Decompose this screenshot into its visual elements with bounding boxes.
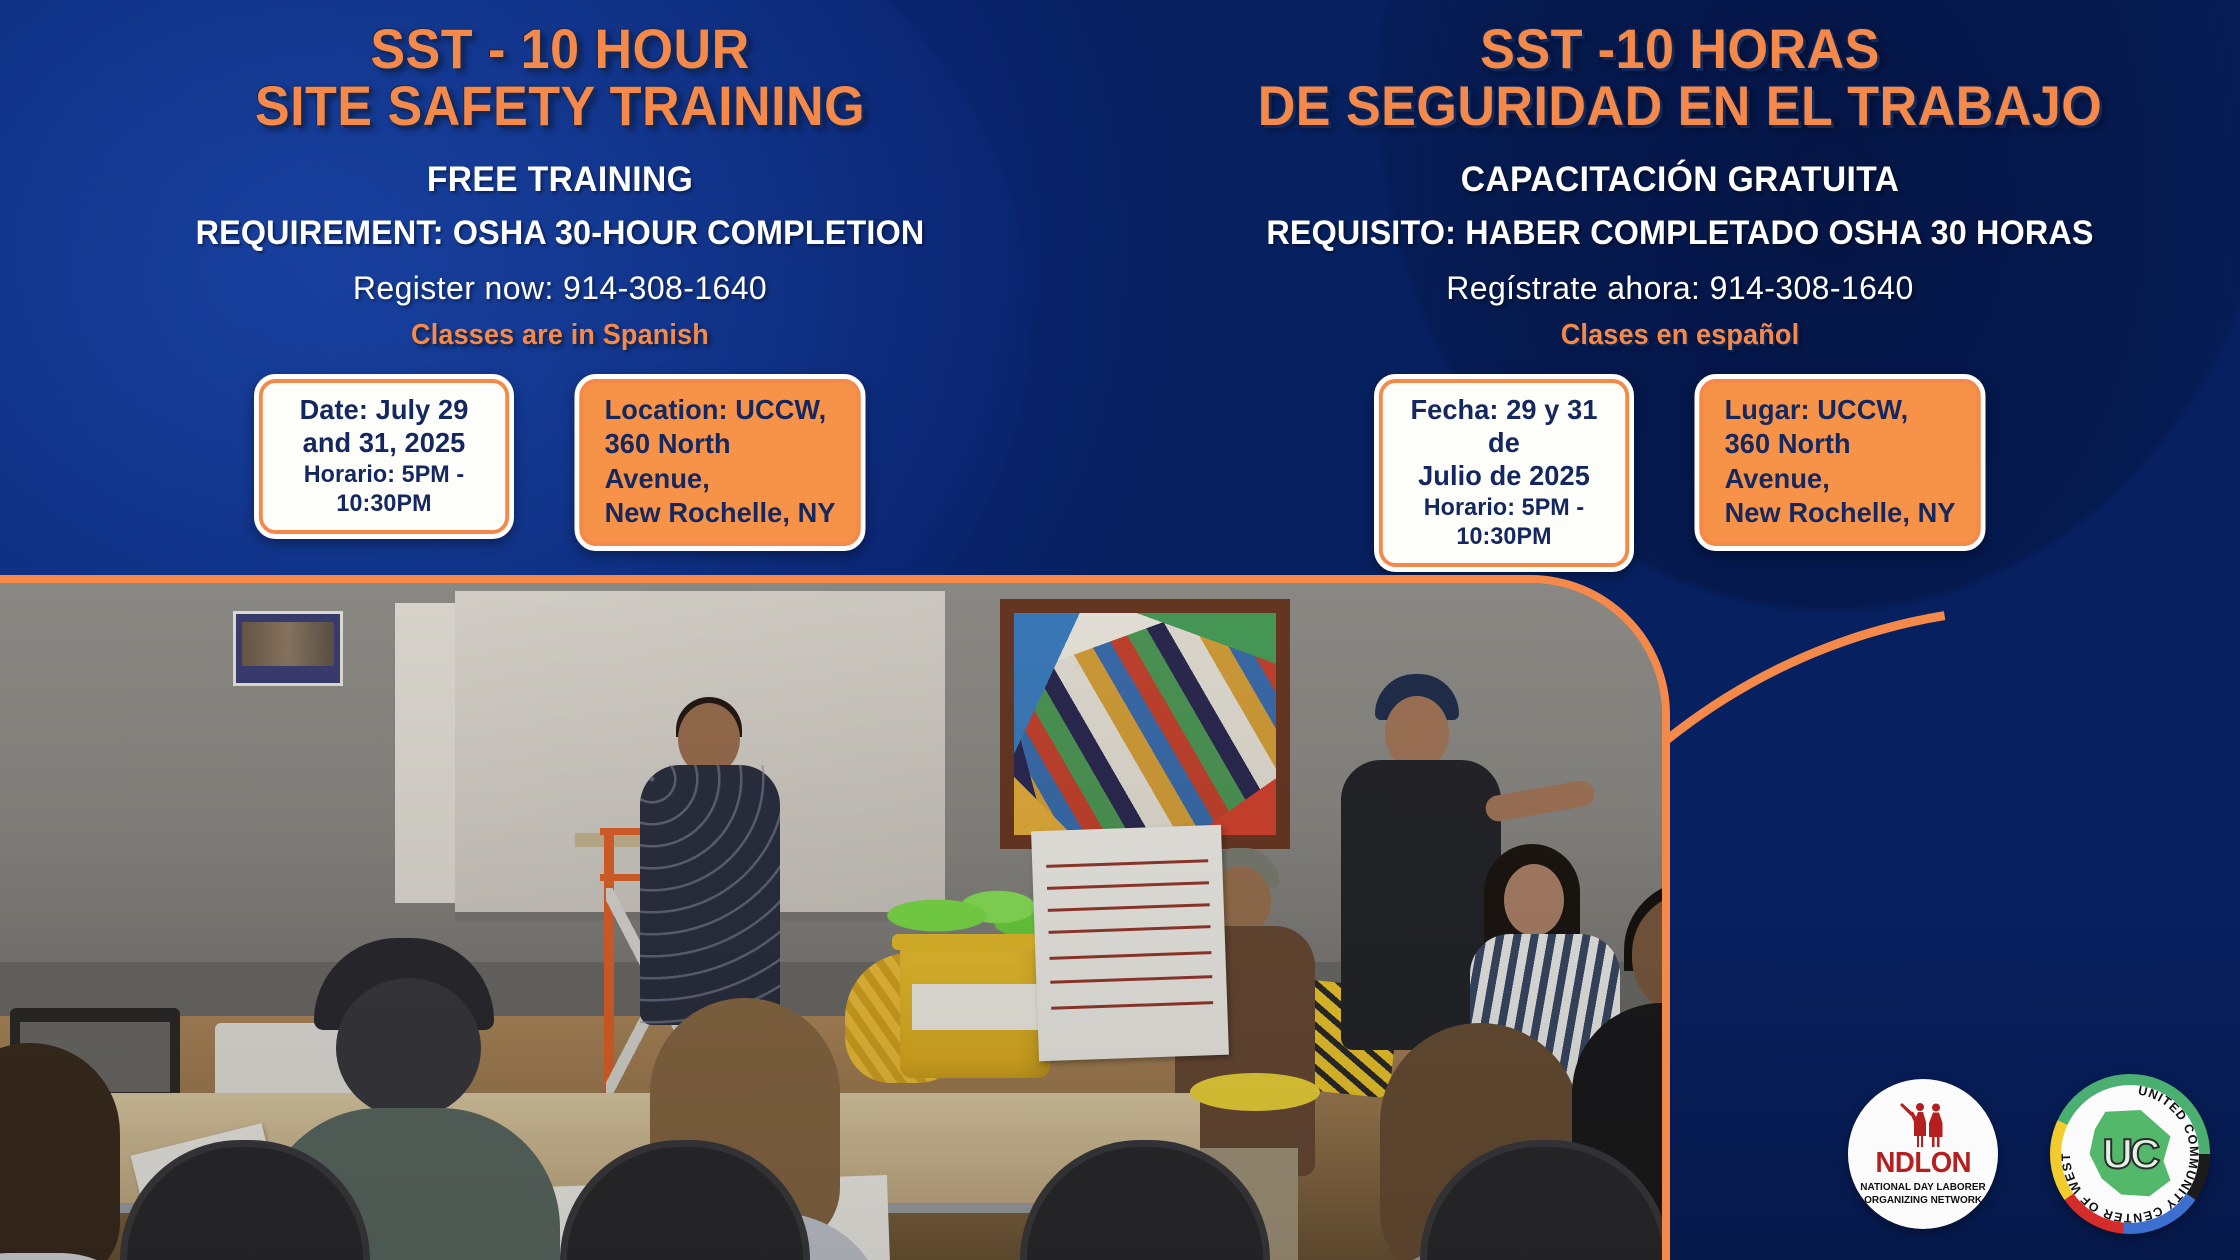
- ndlon-figures-icon: [1894, 1101, 1952, 1147]
- english-date-line1: Date: July 29: [278, 393, 489, 426]
- english-register-phone[interactable]: Register now: 914-308-1640: [0, 270, 1120, 307]
- english-column: SST - 10 HOUR SITE SAFETY TRAINING FREE …: [0, 0, 1120, 551]
- english-date-line3: Horario: 5PM - 10:30PM: [278, 461, 489, 518]
- english-date-line2: and 31, 2025: [278, 426, 489, 459]
- ndlon-acronym: NDLON: [1875, 1149, 1971, 1178]
- spanish-headline: SST -10 HORAS DE SEGURIDAD EN EL TRABAJO: [1159, 0, 2201, 134]
- spanish-column: SST -10 HORAS DE SEGURIDAD EN EL TRABAJO…: [1120, 0, 2240, 572]
- classroom-photo: [0, 583, 1662, 1260]
- classroom-photo-frame: [0, 575, 1670, 1260]
- english-language-note: Classes are in Spanish: [39, 319, 1081, 352]
- english-location-line2: 360 North Avenue,: [605, 427, 842, 495]
- spanish-location-line2: 360 North Avenue,: [1725, 427, 1962, 495]
- english-date-pill: Date: July 29 and 31, 2025 Horario: 5PM …: [254, 374, 514, 539]
- english-headline-line1: SST - 10 HOUR: [370, 17, 749, 80]
- english-location-line3: New Rochelle, NY: [605, 496, 842, 530]
- english-location-pill: Location: UCCW, 360 North Avenue, New Ro…: [575, 374, 866, 551]
- english-info-pills: Date: July 29 and 31, 2025 Horario: 5PM …: [0, 374, 1120, 551]
- spanish-date-line2: Julio de 2025: [1398, 459, 1609, 492]
- spanish-location-line1: Lugar: UCCW,: [1725, 393, 1962, 427]
- logo-row: NDLON NATIONAL DAY LABORER ORGANIZING NE…: [1848, 1074, 2210, 1234]
- uccw-logo: UNITED COMMUNITY CENTER OF WESTCHESTER U…: [2050, 1074, 2210, 1234]
- spanish-date-line3: Horario: 5PM - 10:30PM: [1398, 494, 1609, 551]
- spanish-location-pill: Lugar: UCCW, 360 North Avenue, New Roche…: [1695, 374, 1986, 551]
- spanish-free-training: CAPACITACIÓN GRATUITA: [1142, 160, 2217, 200]
- photo-shading-overlay: [0, 583, 1662, 1260]
- spanish-register-phone[interactable]: Regístrate ahora: 914-308-1640: [1120, 270, 2240, 307]
- english-free-training: FREE TRAINING: [22, 160, 1097, 200]
- ndlon-logo: NDLON NATIONAL DAY LABORER ORGANIZING NE…: [1848, 1079, 1998, 1229]
- spanish-info-pills: Fecha: 29 y 31 de Julio de 2025 Horario:…: [1120, 374, 2240, 572]
- ndlon-subtitle-line2: ORGANIZING NETWORK: [1864, 1194, 1982, 1207]
- uccw-monogram-letters: UC: [2103, 1135, 2158, 1174]
- english-headline: SST - 10 HOUR SITE SAFETY TRAINING: [39, 0, 1081, 134]
- uccw-monogram: UC: [2082, 1106, 2178, 1202]
- spanish-requirement: REQUISITO: HABER COMPLETADO OSHA 30 HORA…: [1148, 214, 2212, 253]
- spanish-headline-line1: SST -10 HORAS: [1480, 17, 1880, 80]
- spanish-language-note: Clases en español: [1159, 319, 2201, 352]
- spanish-date-pill: Fecha: 29 y 31 de Julio de 2025 Horario:…: [1374, 374, 1634, 572]
- poster-root: SST - 10 HOUR SITE SAFETY TRAINING FREE …: [0, 0, 2240, 1260]
- spanish-date-line1: Fecha: 29 y 31 de: [1398, 393, 1609, 459]
- spanish-headline-line2: DE SEGURIDAD EN EL TRABAJO: [1159, 77, 2201, 134]
- spanish-location-line3: New Rochelle, NY: [1725, 496, 1962, 530]
- english-headline-line2: SITE SAFETY TRAINING: [39, 77, 1081, 134]
- ndlon-subtitle-line1: NATIONAL DAY LABORER: [1860, 1181, 1985, 1194]
- english-location-line1: Location: UCCW,: [605, 393, 842, 427]
- english-requirement: REQUIREMENT: OSHA 30-HOUR COMPLETION: [28, 214, 1092, 253]
